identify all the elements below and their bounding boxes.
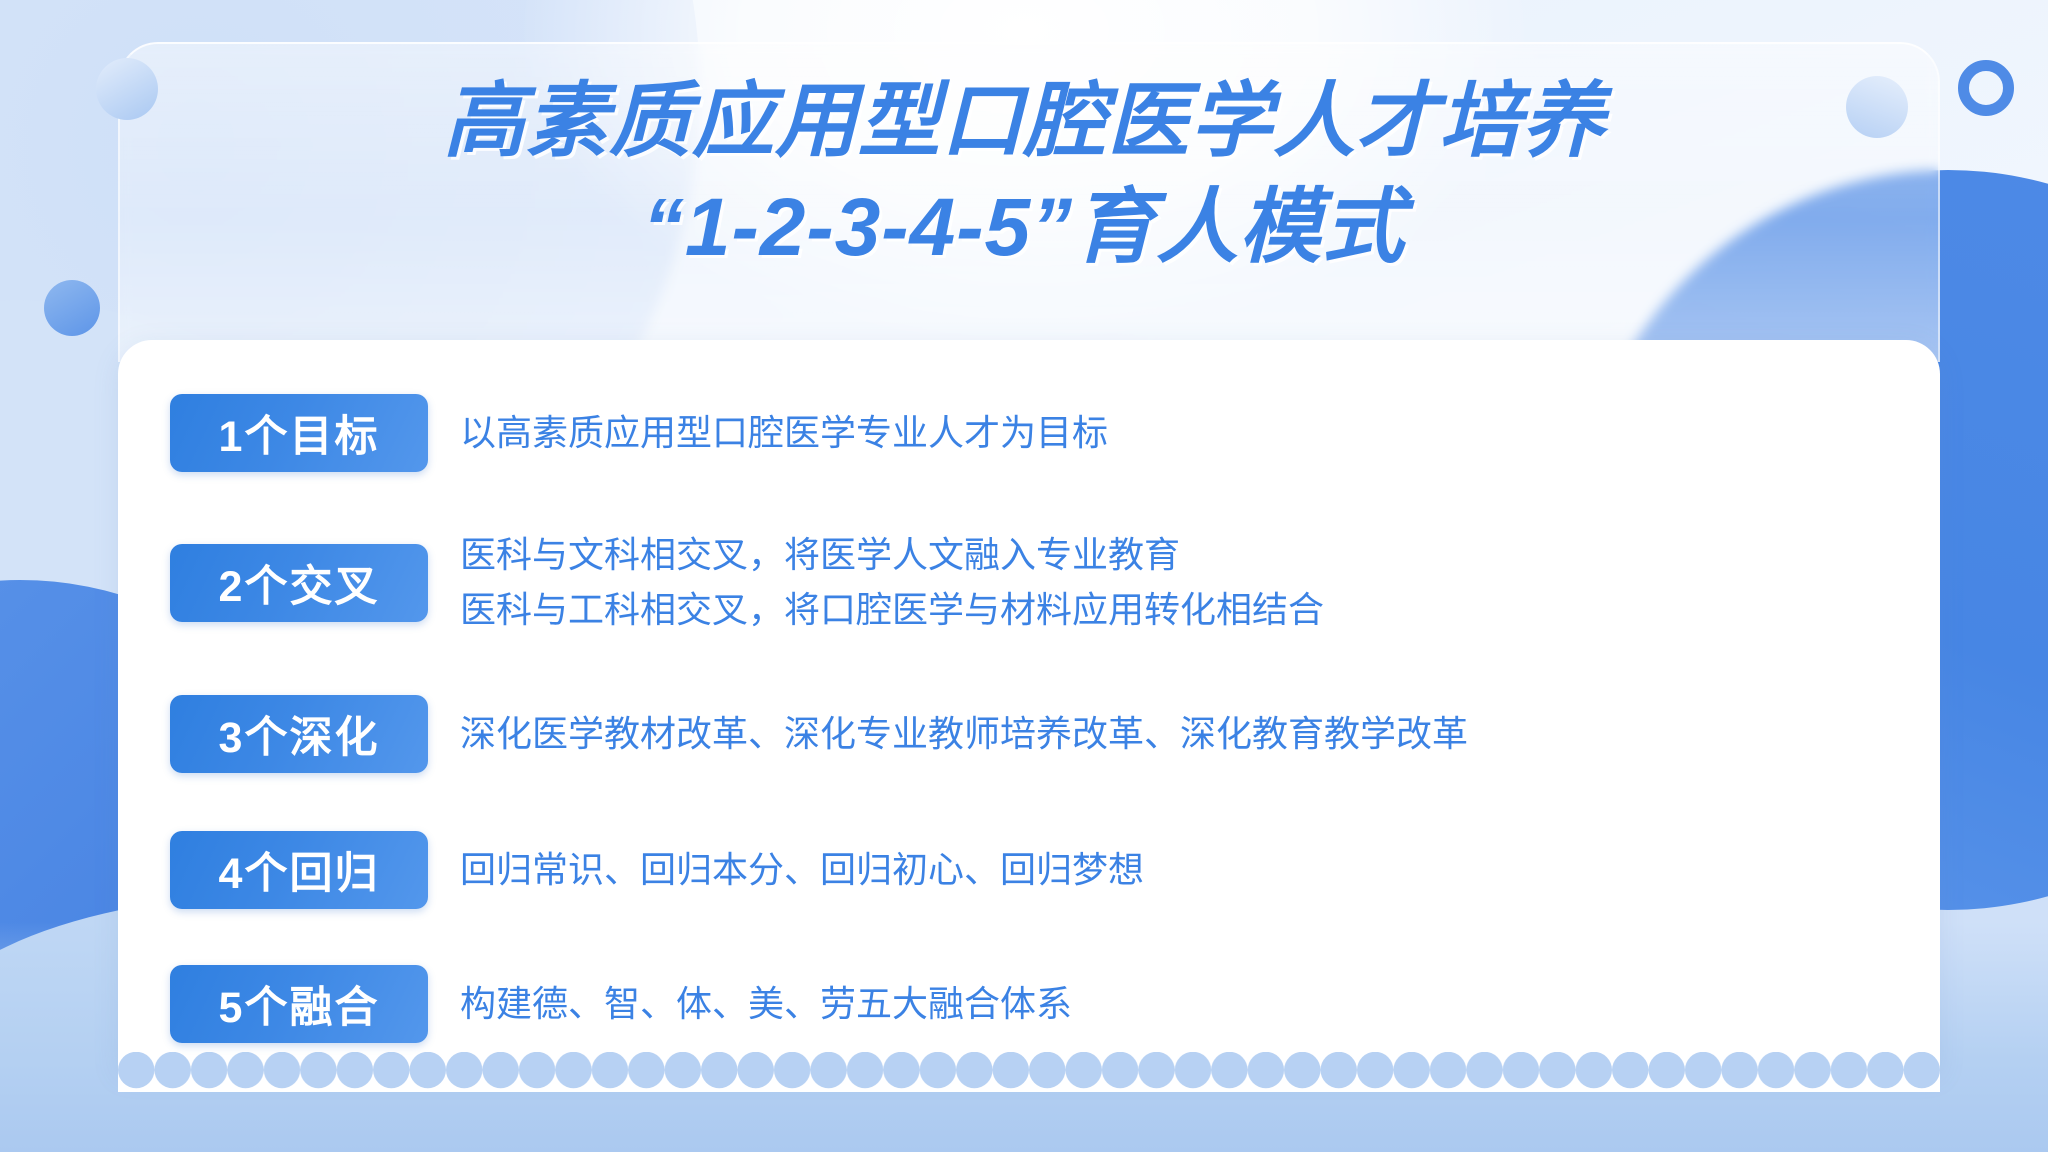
page-title-line-2: “1-2-3-4-5”育人模式	[0, 178, 2048, 278]
row-text-line: 深化医学教材改革、深化专业教师培养改革、深化教育教学改革	[460, 707, 1468, 762]
badge-1: 1个目标	[170, 394, 428, 472]
list-item: 4个回归 回归常识、回归本分、回归初心、回归梦想	[170, 831, 1894, 909]
row-text-line: 回归常识、回归本分、回归初心、回归梦想	[460, 843, 1144, 898]
row-text-line: 构建德、智、体、美、劳五大融合体系	[460, 977, 1072, 1032]
row-text-2: 医科与文科相交叉，将医学人文融入专业教育 医科与工科相交叉，将口腔医学与材料应用…	[460, 528, 1324, 637]
row-text-line: 医科与工科相交叉，将口腔医学与材料应用转化相结合	[460, 583, 1324, 638]
badge-5: 5个融合	[170, 965, 428, 1043]
row-text-4: 回归常识、回归本分、回归初心、回归梦想	[460, 843, 1144, 898]
page-title: 高素质应用型口腔医学人才培养 “1-2-3-4-5”育人模式	[0, 72, 2048, 278]
row-text-5: 构建德、智、体、美、劳五大融合体系	[460, 977, 1072, 1032]
circle-decoration-mid-left-icon	[44, 280, 100, 336]
page-title-line-1: 高素质应用型口腔医学人才培养	[0, 72, 2048, 172]
badge-4: 4个回归	[170, 831, 428, 909]
mode-list: 1个目标 以高素质应用型口腔医学专业人才为目标 2个交叉 医科与文科相交叉，将医…	[118, 340, 1940, 1070]
row-text-line: 以高素质应用型口腔医学专业人才为目标	[460, 406, 1108, 461]
list-item: 1个目标 以高素质应用型口腔医学专业人才为目标	[170, 394, 1894, 472]
list-item: 2个交叉 医科与文科相交叉，将医学人文融入专业教育 医科与工科相交叉，将口腔医学…	[170, 528, 1894, 637]
badge-3: 3个深化	[170, 695, 428, 773]
row-text-1: 以高素质应用型口腔医学专业人才为目标	[460, 406, 1108, 461]
row-text-line: 医科与文科相交叉，将医学人文融入专业教育	[460, 528, 1324, 583]
list-item: 5个融合 构建德、智、体、美、劳五大融合体系	[170, 965, 1894, 1043]
list-item: 3个深化 深化医学教材改革、深化专业教师培养改革、深化教育教学改革	[170, 695, 1894, 773]
badge-2: 2个交叉	[170, 544, 428, 622]
row-text-3: 深化医学教材改革、深化专业教师培养改革、深化教育教学改革	[460, 707, 1468, 762]
